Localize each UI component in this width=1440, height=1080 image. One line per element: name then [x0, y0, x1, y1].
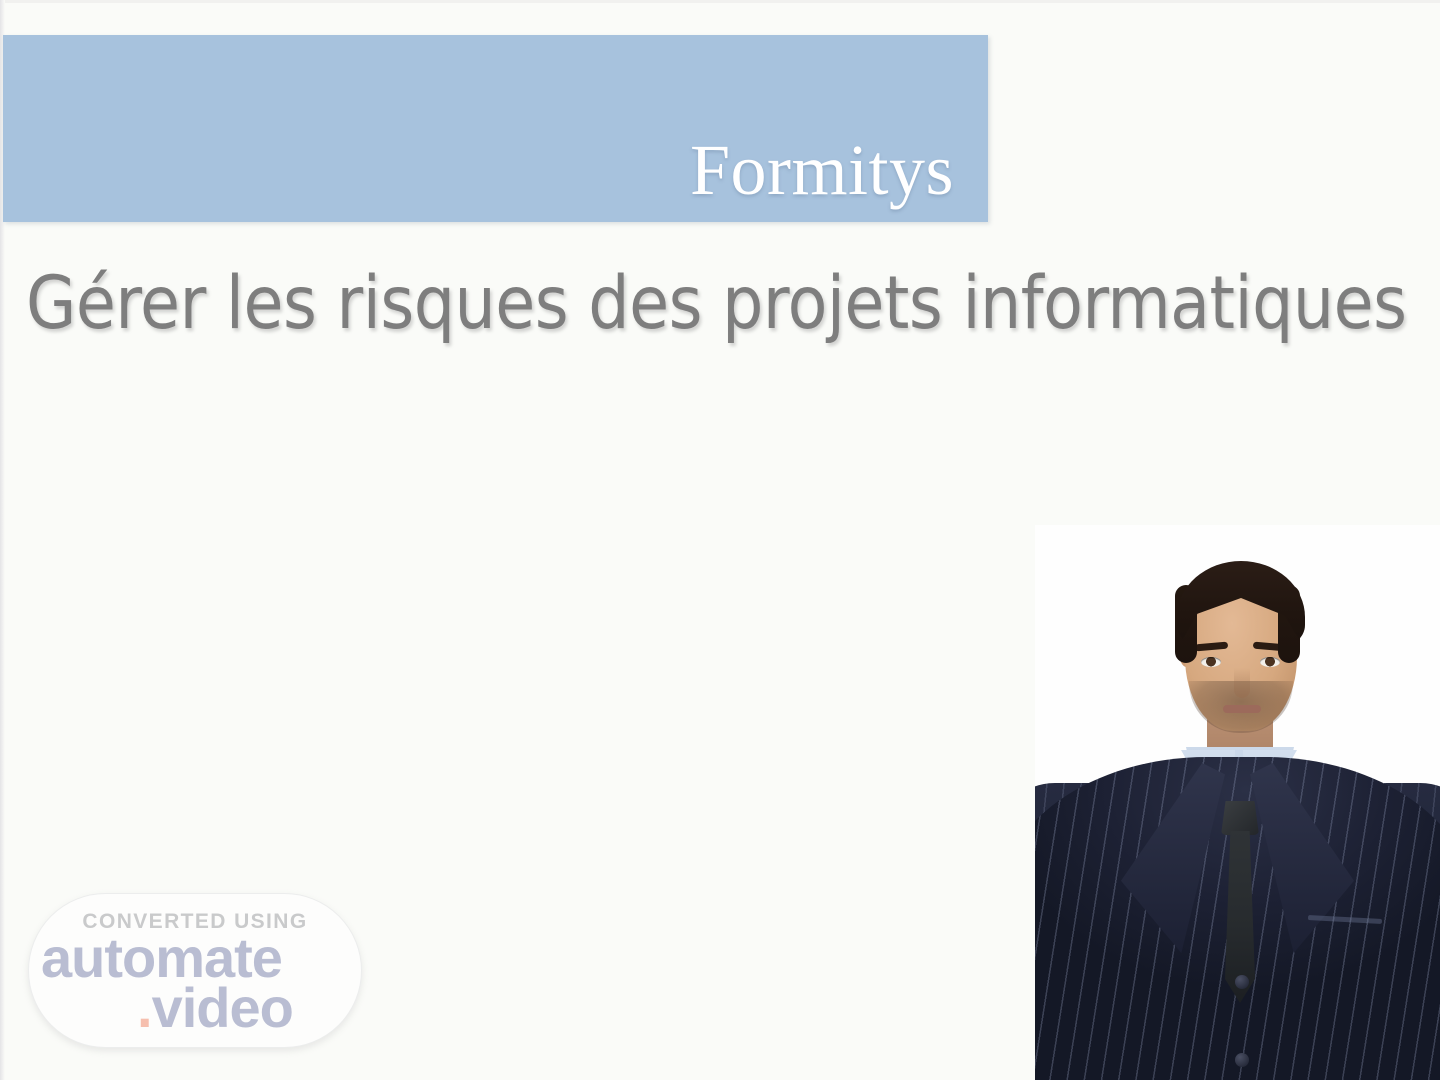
page-title: Gérer les risques des projets informatiq… — [26, 262, 1404, 346]
presenter-figure — [1035, 525, 1440, 1080]
presenter-eye-right — [1260, 657, 1280, 667]
presenter-nose — [1234, 668, 1250, 698]
necktie-knot — [1221, 801, 1259, 835]
presentation-slide: Formitys Gérer les risques des projets i… — [0, 0, 1440, 1080]
watermark-brand-suffix-text: video — [152, 976, 293, 1039]
slide-header-band: Formitys — [3, 35, 988, 222]
watermark-brand-dot: . — [137, 976, 152, 1039]
watermark-brand-suffix: .video — [137, 980, 293, 1036]
jacket-button-lower — [1235, 1053, 1249, 1067]
jacket-button-upper — [1235, 975, 1249, 989]
brand-logo-text: Formitys — [690, 134, 954, 206]
presenter-mouth — [1223, 705, 1261, 713]
presenter-eye-left — [1201, 657, 1221, 667]
page-top-edge — [0, 0, 1440, 3]
watermark-badge[interactable]: CONVERTED USING automate .video — [28, 893, 362, 1048]
